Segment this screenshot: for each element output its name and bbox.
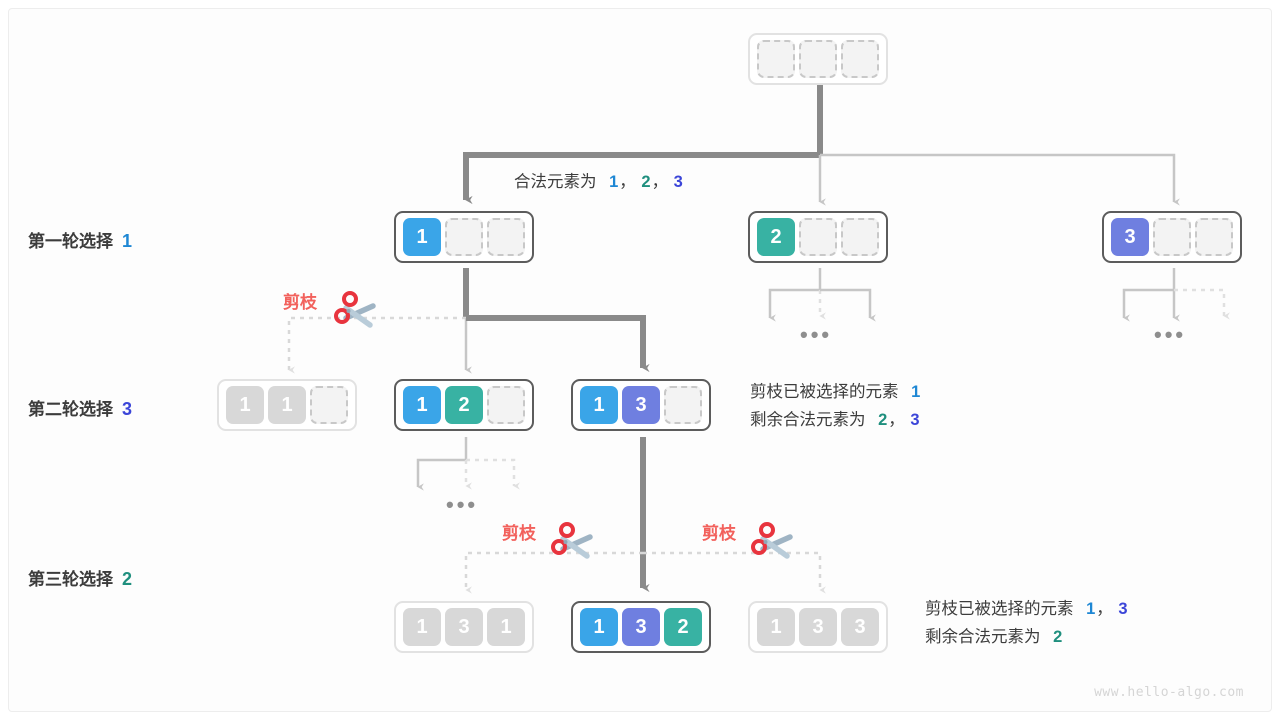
prune-label-3: 剪枝 xyxy=(702,519,736,544)
node-level1-3[interactable]: 3 xyxy=(1102,211,1242,263)
annotation-level3-line1: 剪枝已被选择的元素 1， 3 xyxy=(925,595,1129,623)
row-label-2-value: 3 xyxy=(122,399,132,419)
annotation-level2-line1: 剪枝已被选择的元素 1 xyxy=(750,378,921,406)
annotation-legal-elements-item-1: 2 xyxy=(641,173,650,191)
node-level3-solution-cell-1: 3 xyxy=(622,608,660,646)
annotation-level2-line2: 剩余合法元素为 2， 3 xyxy=(750,406,921,434)
row-label-1-value: 1 xyxy=(122,231,132,251)
node-level1-3-cell-2 xyxy=(1195,218,1233,256)
node-root[interactable] xyxy=(748,33,888,85)
node-level1-1-cell-0: 1 xyxy=(403,218,441,256)
ellipsis-node2-subtree: ••• xyxy=(800,322,832,348)
node-level1-1-cell-2 xyxy=(487,218,525,256)
node-level1-1[interactable]: 1 xyxy=(394,211,534,263)
row-label-2: 第二轮选择3 xyxy=(28,395,132,420)
node-level1-1-cell-1 xyxy=(445,218,483,256)
row-label-1-text: 第一轮选择 xyxy=(28,232,113,251)
annotation-level2-line2-item-0: 2 xyxy=(878,411,887,429)
watermark: www.hello-algo.com xyxy=(1094,685,1244,700)
node-level2-pruned-cell-2 xyxy=(310,386,348,424)
comma-0: ， xyxy=(619,173,636,191)
diagram-canvas: 第一轮选择1 第二轮选择3 第三轮选择2 1 2 3 1 1 1 2 1 xyxy=(0,0,1280,720)
row-label-2-text: 第二轮选择 xyxy=(28,400,113,419)
comma-1: ， xyxy=(652,173,669,191)
node-level1-2-cell-0: 2 xyxy=(757,218,795,256)
node-root-cell-2 xyxy=(841,40,879,78)
node-level3-pruned-right-cell-0: 1 xyxy=(757,608,795,646)
ellipsis-node3-subtree: ••• xyxy=(1154,322,1186,348)
node-level3-pruned-left-cell-0: 1 xyxy=(403,608,441,646)
annotation-level2-line2-text: 剩余合法元素为 xyxy=(750,411,866,429)
scissors-icon-3 xyxy=(749,519,797,568)
node-level1-2[interactable]: 2 xyxy=(748,211,888,263)
annotation-level3-line2-text: 剩余合法元素为 xyxy=(925,628,1041,646)
node-level2-2-cell-0: 1 xyxy=(580,386,618,424)
node-level1-2-cell-2 xyxy=(841,218,879,256)
scissors-icon-1 xyxy=(332,288,380,337)
annotation-level3-line1-text: 剪枝已被选择的元素 xyxy=(925,600,1074,618)
node-level2-1-cell-0: 1 xyxy=(403,386,441,424)
node-level2-2-cell-2 xyxy=(664,386,702,424)
node-level2-1[interactable]: 1 2 xyxy=(394,379,534,431)
node-level2-2[interactable]: 1 3 xyxy=(571,379,711,431)
annotation-level2-line2-item-1: 3 xyxy=(910,411,919,429)
node-root-cell-1 xyxy=(799,40,837,78)
edges-level1-node2-children xyxy=(770,268,870,318)
node-level3-pruned-left[interactable]: 1 3 1 xyxy=(394,601,534,653)
comma-2: ， xyxy=(888,411,905,429)
annotation-legal-elements-text: 合法元素为 xyxy=(514,173,597,191)
annotation-level2-line1-item-0: 1 xyxy=(911,383,920,401)
node-level3-solution-cell-0: 1 xyxy=(580,608,618,646)
node-root-cell-0 xyxy=(757,40,795,78)
annotation-legal-elements-item-0: 1 xyxy=(609,173,618,191)
node-level3-solution-cell-2: 2 xyxy=(664,608,702,646)
node-level1-3-cell-0: 3 xyxy=(1111,218,1149,256)
node-level1-3-cell-1 xyxy=(1153,218,1191,256)
node-level3-pruned-left-cell-1: 3 xyxy=(445,608,483,646)
scissors-icon-2 xyxy=(549,519,597,568)
row-label-3: 第三轮选择2 xyxy=(28,565,132,590)
node-level2-pruned-cell-0: 1 xyxy=(226,386,264,424)
edges-level1-node3-children xyxy=(1124,268,1224,318)
node-level2-1-cell-1: 2 xyxy=(445,386,483,424)
node-level3-pruned-right[interactable]: 1 3 3 xyxy=(748,601,888,653)
row-label-3-text: 第三轮选择 xyxy=(28,570,113,589)
row-label-3-value: 2 xyxy=(122,569,132,589)
node-level3-pruned-right-cell-2: 3 xyxy=(841,608,879,646)
annotation-legal-elements-item-2: 3 xyxy=(674,173,683,191)
prune-label-2: 剪枝 xyxy=(502,519,536,544)
node-level1-2-cell-1 xyxy=(799,218,837,256)
row-label-1: 第一轮选择1 xyxy=(28,227,132,252)
node-level2-pruned-cell-1: 1 xyxy=(268,386,306,424)
node-level3-solution[interactable]: 1 3 2 xyxy=(571,601,711,653)
annotation-level2-line1-text: 剪枝已被选择的元素 xyxy=(750,383,899,401)
edges-level2-node1-children xyxy=(418,437,514,487)
node-level3-pruned-right-cell-1: 3 xyxy=(799,608,837,646)
annotation-level3-line1-item-0: 1 xyxy=(1086,600,1095,618)
node-level2-pruned[interactable]: 1 1 xyxy=(217,379,357,431)
annotation-level3-line1-item-1: 3 xyxy=(1118,600,1127,618)
ellipsis-level2-subtree: ••• xyxy=(446,492,478,518)
annotation-level2: 剪枝已被选择的元素 1 剩余合法元素为 2， 3 xyxy=(750,378,921,434)
annotation-level3-line2: 剩余合法元素为 2 xyxy=(925,623,1129,651)
prune-label-1: 剪枝 xyxy=(283,288,317,313)
annotation-legal-elements: 合法元素为 1， 2， 3 xyxy=(514,168,684,196)
annotation-level3-line2-item-0: 2 xyxy=(1053,628,1062,646)
annotation-level3: 剪枝已被选择的元素 1， 3 剩余合法元素为 2 xyxy=(925,595,1129,651)
comma-3: ， xyxy=(1096,600,1113,618)
node-level2-2-cell-1: 3 xyxy=(622,386,660,424)
node-level3-pruned-left-cell-2: 1 xyxy=(487,608,525,646)
node-level2-1-cell-2 xyxy=(487,386,525,424)
